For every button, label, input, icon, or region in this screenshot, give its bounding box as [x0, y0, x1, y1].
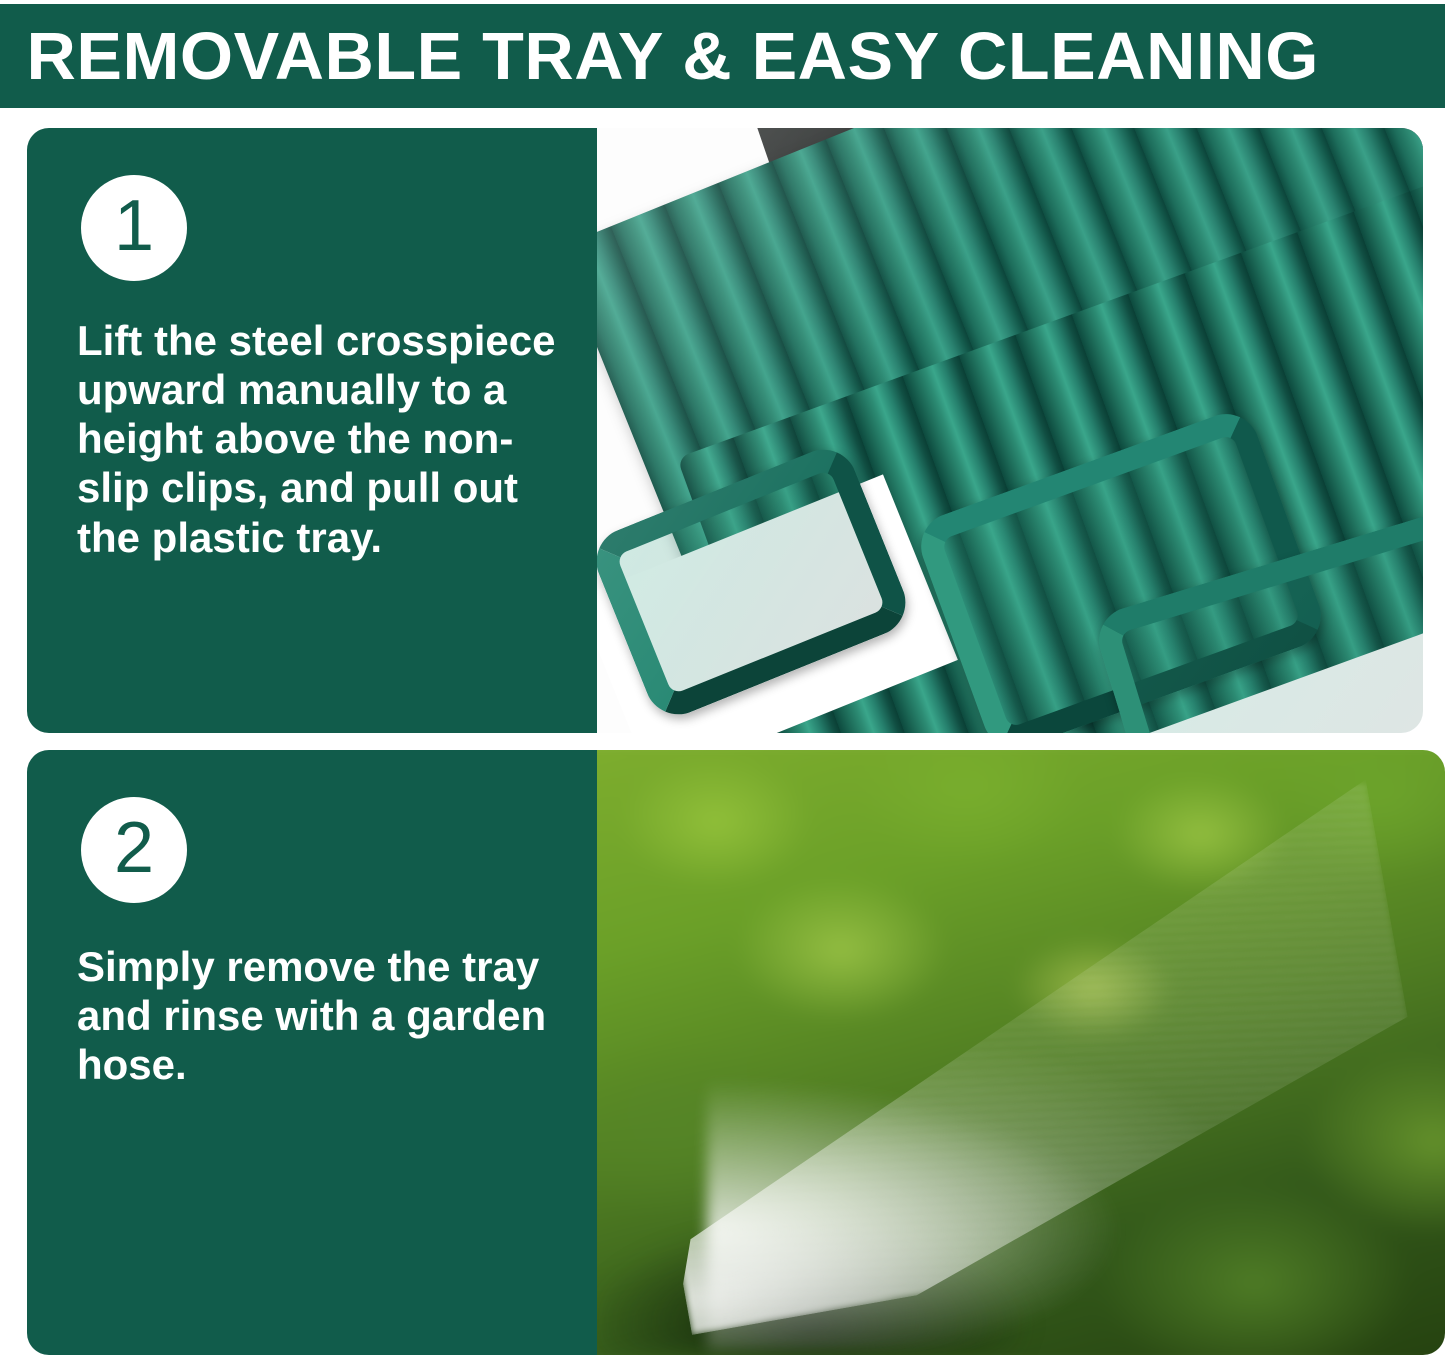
step-1-description: Lift the steel crosspiece upward manuall…: [77, 316, 585, 562]
page-title: REMOVABLE TRAY & EASY CLEANING: [0, 23, 1319, 90]
step-1-number: 1: [114, 190, 154, 262]
step-2-number: 2: [114, 812, 154, 884]
step-panel-2: 2 Simply remove the tray and rinse with …: [27, 750, 1445, 1355]
step-2-description: Simply remove the tray and rinse with a …: [77, 942, 585, 1089]
step-2-number-badge: 2: [81, 797, 187, 903]
header-banner: REMOVABLE TRAY & EASY CLEANING: [0, 4, 1445, 108]
water-spray-glow: [707, 1050, 1347, 1350]
step-1-text-card: 1 Lift the steel crosspiece upward manua…: [27, 128, 597, 733]
step-1-photo: [597, 128, 1423, 733]
step-2-text-card: 2 Simply remove the tray and rinse with …: [27, 750, 597, 1355]
step-1-number-badge: 1: [81, 175, 187, 281]
step-panel-1: 1 Lift the steel crosspiece upward manua…: [27, 128, 1423, 733]
step-2-photo: MIST: [597, 750, 1445, 1355]
photo-1-gloss-overlay: [597, 128, 1423, 733]
